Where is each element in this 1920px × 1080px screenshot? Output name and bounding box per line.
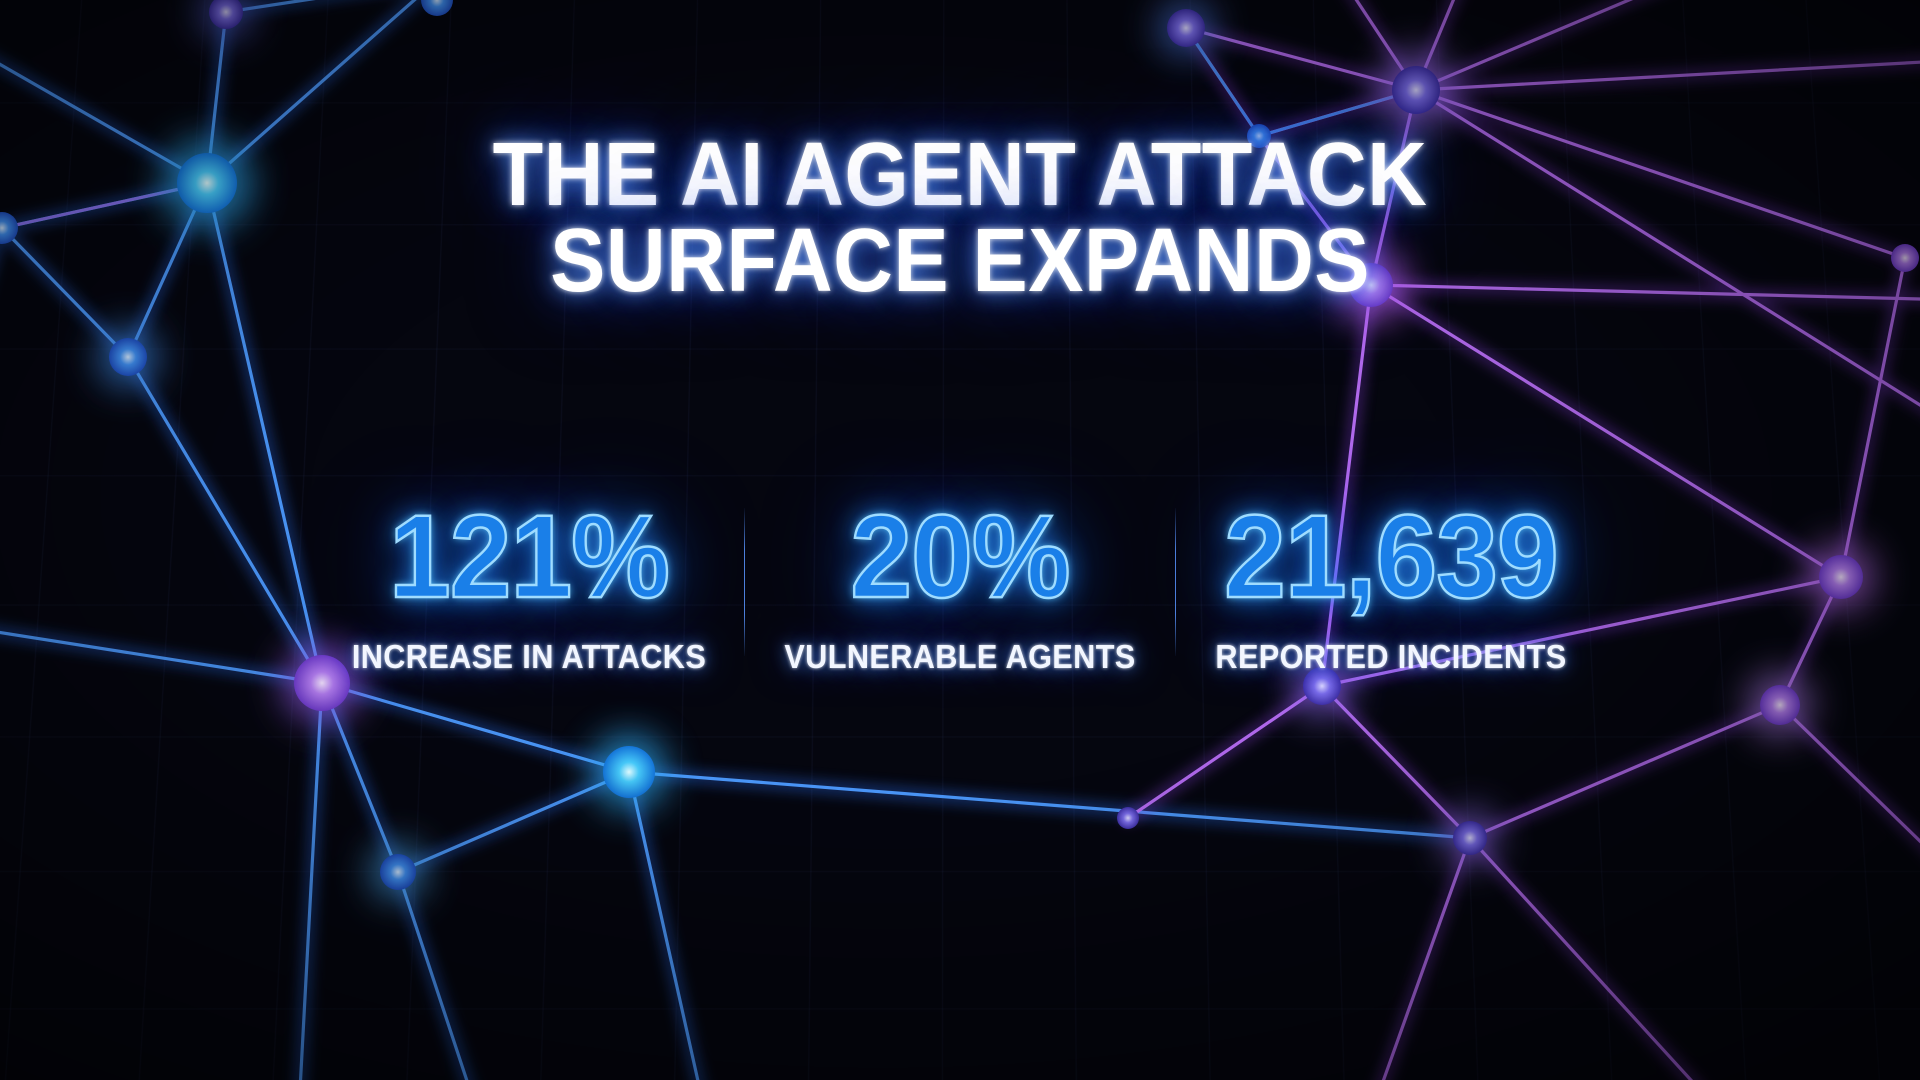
infographic-canvas: THE AI AGENT ATTACK SURFACE EXPANDS 121%… [0,0,1920,1080]
stat-label: REPORTED INCIDENTS [1191,638,1591,676]
page-title: THE AI AGENT ATTACK SURFACE EXPANDS [493,132,1428,305]
stat-label: VULNERABLE AGENTS [760,638,1160,676]
content-layer: THE AI AGENT ATTACK SURFACE EXPANDS 121%… [0,0,1920,1080]
stat-reported-incidents: 21,639 REPORTED INCIDENTS [1176,498,1606,676]
title-line-1: THE AI AGENT ATTACK [493,132,1428,218]
title-line-2: SURFACE EXPANDS [493,218,1428,304]
stats-row: 121% INCREASE IN ATTACKS 20% VULNERABLE … [0,498,1920,676]
stat-value: 21,639 [1189,498,1593,616]
stat-label: INCREASE IN ATTACKS [329,638,729,676]
stat-vulnerable-agents: 20% VULNERABLE AGENTS [745,498,1175,676]
stat-value: 20% [758,498,1162,616]
stat-value: 121% [327,498,731,616]
stat-increase-in-attacks: 121% INCREASE IN ATTACKS [314,498,744,676]
